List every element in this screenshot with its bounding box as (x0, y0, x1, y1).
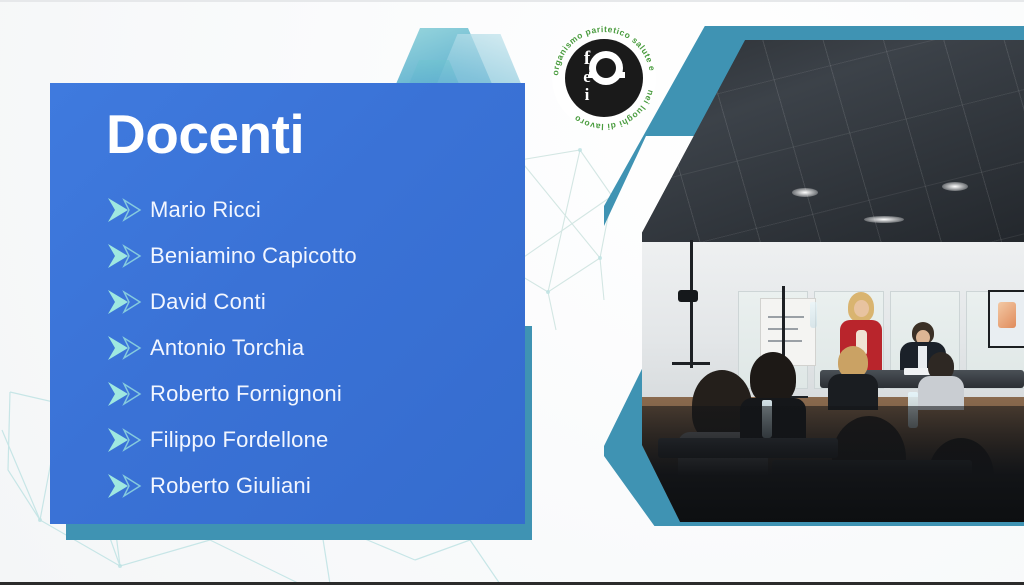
instructor-name: Antonio Torchia (150, 335, 304, 361)
instructor-name: Roberto Fornignoni (150, 381, 342, 407)
fei-logo: f e i organismo paritetico salute e sicu… (540, 16, 668, 134)
logo-letter-e: e (583, 67, 591, 86)
instructor-name: Roberto Giuliani (150, 473, 311, 499)
chevron-arrow-icon (106, 425, 150, 455)
chevron-arrow-icon (106, 195, 150, 225)
page-title: Docenti (106, 107, 304, 162)
chevron-arrow-icon (106, 287, 150, 317)
chevron-arrow-icon (106, 471, 150, 501)
list-item: Mario Ricci (106, 187, 509, 233)
instructor-list: Mario Ricci Beniamino Capicotto (106, 187, 509, 509)
logo-letter-i: i (585, 85, 590, 104)
list-item: Filippo Fordellone (106, 417, 509, 463)
logo-letter-f: f (584, 48, 591, 69)
list-item: David Conti (106, 279, 509, 325)
list-item: Roberto Giuliani (106, 463, 509, 509)
instructor-name: Beniamino Capicotto (150, 243, 357, 269)
chevron-arrow-icon (106, 379, 150, 409)
chevron-arrow-icon (106, 241, 150, 271)
list-item: Beniamino Capicotto (106, 233, 509, 279)
top-edge (0, 0, 1024, 2)
list-item: Roberto Fornignoni (106, 371, 509, 417)
slide-canvas: Docenti Mario Ricci Ben (0, 0, 1024, 585)
list-item: Antonio Torchia (106, 325, 509, 371)
instructor-name: Filippo Fordellone (150, 427, 328, 453)
docenti-card: Docenti Mario Ricci Ben (50, 83, 525, 524)
chevron-arrow-icon (106, 333, 150, 363)
instructor-name: Mario Ricci (150, 197, 261, 223)
instructor-name: David Conti (150, 289, 266, 315)
